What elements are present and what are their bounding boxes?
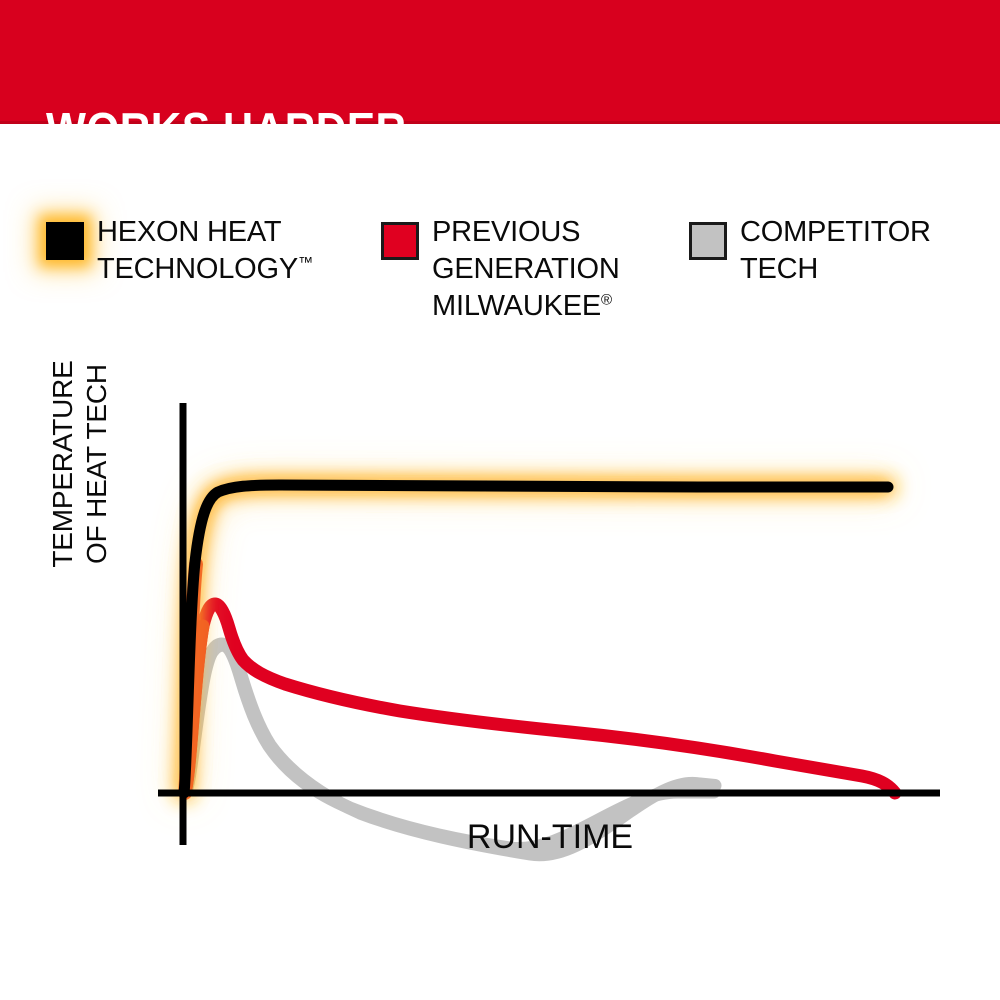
trademark-symbol: ™ [298, 254, 313, 271]
x-axis-label: RUN-TIME [160, 818, 940, 857]
legend-item-label: COMPETITOR TECH [740, 214, 931, 288]
series-line-hexon-glow [184, 485, 888, 793]
red-square-swatch-icon [381, 222, 419, 260]
line-chart [0, 370, 1000, 890]
legend-label-text: HEXON HEAT TECHNOLOGY [97, 216, 298, 285]
chart-svg [0, 370, 1000, 890]
header-banner: WORKS HARDER IN FREEZING TEMPS [0, 0, 1000, 124]
page-title-line-1: WORKS HARDER [46, 106, 479, 152]
legend-item-label: HEXON HEAT TECHNOLOGY™ [97, 214, 313, 288]
legend-label-text: PREVIOUS GENERATION MILWAUKEE [432, 216, 620, 322]
series-line-hexon-heat-technology [184, 485, 888, 793]
black-square-swatch-icon [46, 222, 84, 260]
chart-legend: HEXON HEAT TECHNOLOGY™ PREVIOUS GENERATI… [0, 210, 1000, 350]
legend-label-text: COMPETITOR TECH [740, 216, 931, 285]
gray-square-swatch-icon [689, 222, 727, 260]
registered-symbol: ® [601, 291, 612, 308]
y-axis-label: TEMPERATURE OF HEAT TECH [46, 264, 114, 664]
legend-item-label: PREVIOUS GENERATION MILWAUKEE® [432, 214, 620, 325]
